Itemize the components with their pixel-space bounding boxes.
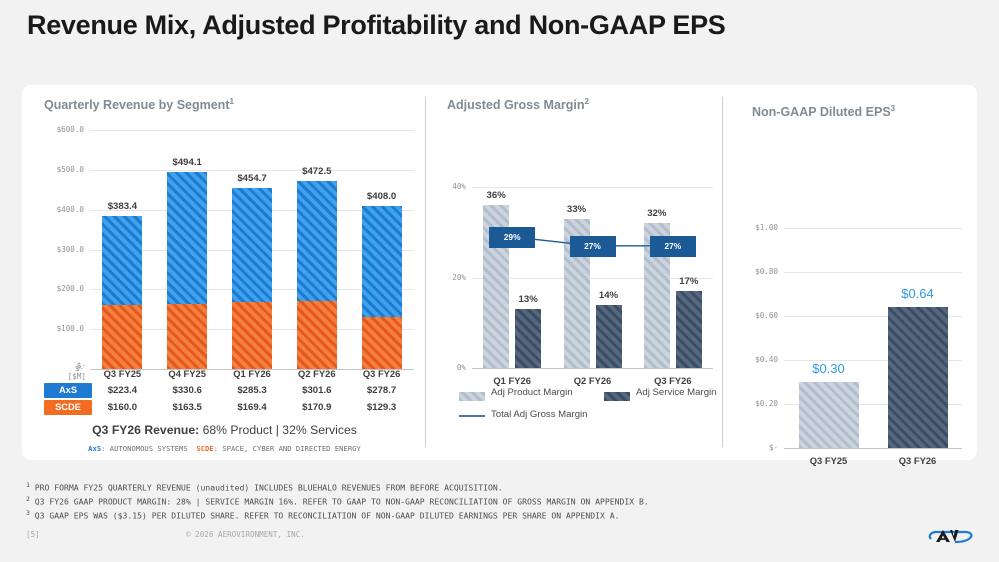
panel2-total-margin-marker: 27% [650,236,696,257]
footnote-row: 1 PRO FORMA FY25 QUARTERLY REVENUE (unau… [26,480,649,494]
panel1-total-label: $383.4 [82,201,162,212]
panel3-category-label: Q3 FY26 [873,455,963,466]
page-number: [5] [26,530,40,539]
footnotes-block: 1 PRO FORMA FY25 QUARTERLY REVENUE (unau… [26,480,649,523]
panel3-ytick-label: $0.60 [736,311,778,320]
panel1-summary: Q3 FY26 Revenue: 68% Product | 32% Servi… [32,423,417,437]
panel3-bar [799,382,859,448]
panel1-ytick-label: $500.0 [32,165,84,174]
panel1-bar-scde [232,302,272,369]
key-axs-text: : AUTONOMOUS SYSTEMS [101,444,188,453]
panel1-bar-scde [167,304,207,369]
panel1-bar-axs [102,216,142,305]
panel1-cell-axs: $278.7 [337,385,427,396]
panel1-title-superscript: 1 [229,97,233,106]
panel3-ytick-label: $0.80 [736,267,778,276]
panel1-segment-key: AxS: AUTONOMOUS SYSTEMS SCDE: SPACE, CYB… [32,444,417,453]
panel1-total-label: $494.1 [147,157,227,168]
panel3-title-superscript: 3 [891,104,895,113]
footnote-text: Q3 FY26 GAAP PRODUCT MARGIN: 28% | SERVI… [30,497,649,507]
panel3-category-label: Q3 FY25 [784,455,874,466]
panel1-gridline [90,170,414,171]
panel3-ytick-label: $- [736,443,778,452]
key-axs-label: AxS [88,444,101,453]
panel1-ytick-label: $300.0 [32,245,84,254]
panel1-bar-scde [362,317,402,369]
panel1-cell-scde: $129.3 [337,402,427,413]
panel1-badge-axs: AxS [44,383,92,398]
legend-label-service-margin: Adj Service Margin [636,387,717,398]
footnote-row: 3 Q3 GAAP EPS WAS ($3.15) PER DILUTED SH… [26,508,649,522]
panel3-gridline [784,448,962,449]
panel3-gridline [784,272,962,273]
panel3-ytick-label: $1.00 [736,223,778,232]
key-scde-text: : SPACE, CYBER AND DIRECTED ENERGY [214,444,361,453]
slide-root: Revenue Mix, Adjusted Profitability and … [0,0,999,562]
footnote-text: Q3 GAAP EPS WAS ($3.15) PER DILUTED SHAR… [30,511,620,521]
panel1-summary-rest: 68% Product | 32% Services [199,423,357,437]
panel1-bar-scde [102,305,142,369]
panel1-ytick-label: $600.0 [32,125,84,134]
panel1-total-label: $408.0 [342,191,422,202]
footnote-text: PRO FORMA FY25 QUARTERLY REVENUE (unaudi… [30,483,503,493]
panel-non-gaap-eps: Non-GAAP Diluted EPS3 $-$0.20$0.40$0.60$… [722,85,977,460]
panel2-total-margin-line [425,85,722,460]
copyright-notice: © 2026 AEROVIRONMENT, INC. [186,530,305,539]
panel1-ytick-label: $200.0 [32,284,84,293]
panel1-ytick-label: $100.0 [32,324,84,333]
panel1-title: Quarterly Revenue by Segment1 [44,97,234,112]
panel3-title: Non-GAAP Diluted EPS3 [752,104,895,119]
panel1-gridline [90,130,414,131]
panel3-value-label: $0.30 [784,361,874,376]
panel3-value-label: $0.64 [873,286,963,301]
panel1-summary-bold: Q3 FY26 Revenue: [92,423,199,437]
panel1-bar-scde [297,301,337,369]
panel1-bar-axs [167,172,207,304]
legend-swatch-product-margin [459,392,485,401]
av-logo [925,526,977,548]
panel1-bar-axs [232,188,272,302]
legend-label-product-margin: Adj Product Margin [491,387,573,398]
charts-card: Quarterly Revenue by Segment1 $-$100.0$2… [22,85,977,460]
panel-adjusted-gross-margin: Adjusted Gross Margin2 0%20%40%36%13%Q1 … [425,85,722,460]
panel3-gridline [784,228,962,229]
panel1-title-text: Quarterly Revenue by Segment [44,98,229,112]
page-title: Revenue Mix, Adjusted Profitability and … [27,10,726,41]
panel1-bar-axs [362,206,402,317]
panel1-badge-scde: SCDE [44,400,92,415]
panel3-title-text: Non-GAAP Diluted EPS [752,105,891,119]
legend-swatch-total-margin [459,415,485,417]
key-scde-label: SCDE [196,444,213,453]
panel3-ytick-label: $0.20 [736,399,778,408]
panel3-ytick-label: $0.40 [736,355,778,364]
legend-label-total-margin: Total Adj Gross Margin [491,409,588,420]
panel1-category-label: Q3 FY26 [337,368,427,379]
panel-quarterly-revenue: Quarterly Revenue by Segment1 $-$100.0$2… [22,85,425,460]
panel2-total-margin-marker: 29% [489,227,535,248]
panel1-ytick-label: $400.0 [32,205,84,214]
panel3-bar [888,307,948,448]
panel2-total-margin-marker: 27% [570,236,616,257]
panel1-total-label: $472.5 [277,166,357,177]
legend-swatch-service-margin [604,392,630,401]
footnote-row: 2 Q3 FY26 GAAP PRODUCT MARGIN: 28% | SER… [26,494,649,508]
panel1-bar-axs [297,181,337,301]
